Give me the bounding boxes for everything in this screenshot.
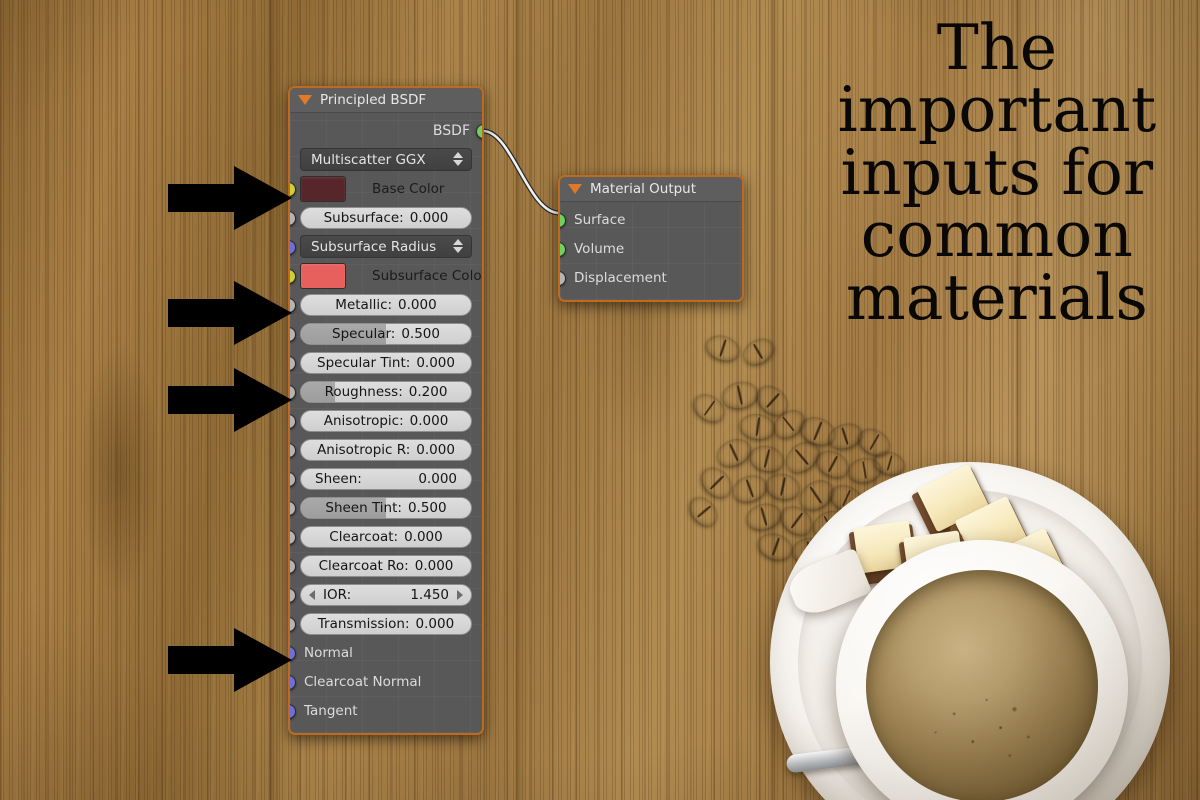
label-subsurface-color: Subsurface Colo [372,268,482,284]
row-clearcoat-roughness[interactable]: Clearcoat Ro: 0.000 [290,551,482,580]
value-ior: 1.450 [410,587,449,603]
numberfield-ior[interactable]: IOR: 1.450 [300,584,472,606]
node-material-output-body: Surface Volume Displacement [560,202,742,300]
triangle-down-icon[interactable] [568,184,582,194]
label-anisotropic-rotation: Anisotropic R: [317,442,410,458]
label-tangent: Tangent [290,703,358,719]
value-metallic: 0.000 [398,297,437,313]
node-material-output[interactable]: Material Output Surface Volume Displacem… [558,175,744,302]
color-swatch-base-color[interactable] [300,176,346,202]
row-clearcoat-normal[interactable]: Clearcoat Normal [290,667,482,696]
label-anisotropic: Anisotropic: [324,413,404,429]
slider-anisotropic[interactable]: Anisotropic: 0.000 [300,410,472,432]
value-sheen-tint: 0.500 [408,500,447,516]
row-ior[interactable]: IOR: 1.450 [290,580,482,609]
node-principled-title: Principled BSDF [320,92,426,108]
label-clearcoat-roughness: Clearcoat Ro: [319,558,409,574]
overlay-heading: The important inputs for common material… [832,18,1162,330]
socket-output-bsdf[interactable] [476,124,484,139]
label-ior: IOR: [323,587,351,603]
slider-roughness[interactable]: Roughness: 0.200 [300,381,472,403]
label-sheen: Sheen: [315,471,362,487]
row-displacement[interactable]: Displacement [560,263,742,292]
label-surface: Surface [560,212,625,228]
value-specular-tint: 0.000 [416,355,455,371]
socket-clearcoat[interactable] [288,530,296,545]
row-sheen-tint[interactable]: Sheen Tint: 0.500 [290,493,482,522]
row-volume[interactable]: Volume [560,234,742,263]
socket-sheen[interactable] [288,472,296,487]
slider-sheen[interactable]: Sheen: 0.000 [300,468,472,490]
value-anisotropic: 0.000 [410,413,449,429]
dropdown-subsurface-radius[interactable]: Subsurface Radius [300,235,472,258]
label-normal: Normal [290,645,353,661]
row-surface[interactable]: Surface [560,205,742,234]
row-base-color[interactable]: Base Color [290,174,482,203]
updown-arrows-icon[interactable] [453,239,463,253]
label-volume: Volume [560,241,624,257]
row-tangent[interactable]: Tangent [290,696,482,725]
socket-sheen-tint[interactable] [288,501,296,516]
value-clearcoat: 0.000 [404,529,443,545]
slider-clearcoat[interactable]: Clearcoat: 0.000 [300,526,472,548]
row-subsurface-color[interactable]: Subsurface Colo [290,261,482,290]
socket-ior[interactable] [288,588,296,603]
slider-sheen-tint[interactable]: Sheen Tint: 0.500 [300,497,472,519]
node-principled-header[interactable]: Principled BSDF [290,88,482,113]
heading-line-1: The [832,18,1162,78]
label-specular: Specular: [332,326,395,342]
value-specular: 0.500 [401,326,440,342]
row-anisotropic[interactable]: Anisotropic: 0.000 [290,406,482,435]
slider-subsurface[interactable]: Subsurface: 0.000 [300,207,472,229]
value-sheen: 0.000 [418,471,457,487]
heading-line-2: important [832,80,1162,140]
label-base-color: Base Color [372,181,444,197]
row-specular[interactable]: Specular: 0.500 [290,319,482,348]
node-principled-body: BSDF Multiscatter GGX Base Color [290,113,482,733]
row-metallic[interactable]: Metallic: 0.000 [290,290,482,319]
label-sheen-tint: Sheen Tint: [325,500,402,516]
dropdown-distribution[interactable]: Multiscatter GGX [300,148,472,171]
label-subsurface-radius: Subsurface Radius [311,239,436,255]
screenshot-canvas: Principled BSDF BSDF Multiscatter GGX [0,0,1200,800]
output-row-bsdf[interactable]: BSDF [290,116,482,145]
slider-specular-tint[interactable]: Specular Tint: 0.000 [300,352,472,374]
label-transmission: Transmission: [318,616,410,632]
label-clearcoat: Clearcoat: [329,529,398,545]
label-subsurface: Subsurface: [324,210,404,226]
heading-line-3: inputs for [832,143,1162,203]
socket-clearcoat-roughness[interactable] [288,559,296,574]
row-subsurface[interactable]: Subsurface: 0.000 [290,203,482,232]
socket-anisotropic-rotation[interactable] [288,443,296,458]
row-specular-tint[interactable]: Specular Tint: 0.000 [290,348,482,377]
row-anisotropic-rotation[interactable]: Anisotropic R: 0.000 [290,435,482,464]
node-principled-bsdf[interactable]: Principled BSDF BSDF Multiscatter GGX [288,86,484,735]
value-anisotropic-rotation: 0.000 [416,442,455,458]
value-subsurface: 0.000 [410,210,449,226]
row-clearcoat[interactable]: Clearcoat: 0.000 [290,522,482,551]
updown-arrows-icon[interactable] [453,152,463,166]
heading-line-5: materials [832,268,1162,328]
value-transmission: 0.000 [416,616,455,632]
node-material-output-header[interactable]: Material Output [560,177,742,202]
row-roughness[interactable]: Roughness: 0.200 [290,377,482,406]
slider-clearcoat-roughness[interactable]: Clearcoat Ro: 0.000 [300,555,472,577]
slider-specular[interactable]: Specular: 0.500 [300,323,472,345]
slider-metallic[interactable]: Metallic: 0.000 [300,294,472,316]
slider-anisotropic-rotation[interactable]: Anisotropic R: 0.000 [300,439,472,461]
chevron-right-icon[interactable] [457,590,463,600]
value-clearcoat-roughness: 0.000 [415,558,454,574]
label-metallic: Metallic: [335,297,392,313]
heading-line-4: common [832,205,1162,265]
output-label-bsdf: BSDF [290,123,482,139]
row-subsurface-radius[interactable]: Subsurface Radius [290,232,482,261]
row-sheen[interactable]: Sheen: 0.000 [290,464,482,493]
label-displacement: Displacement [560,270,667,286]
color-swatch-subsurface-color[interactable] [300,263,346,289]
label-clearcoat-normal: Clearcoat Normal [290,674,421,690]
row-distribution[interactable]: Multiscatter GGX [290,145,482,174]
triangle-down-icon[interactable] [298,95,312,105]
socket-subsurface-radius[interactable] [288,240,296,255]
row-transmission[interactable]: Transmission: 0.000 [290,609,482,638]
row-normal[interactable]: Normal [290,638,482,667]
value-roughness: 0.200 [409,384,448,400]
slider-transmission[interactable]: Transmission: 0.000 [300,613,472,635]
node-material-output-title: Material Output [590,181,696,197]
label-specular-tint: Specular Tint: [317,355,410,371]
dropdown-distribution-value: Multiscatter GGX [311,152,426,168]
label-roughness: Roughness: [325,384,403,400]
